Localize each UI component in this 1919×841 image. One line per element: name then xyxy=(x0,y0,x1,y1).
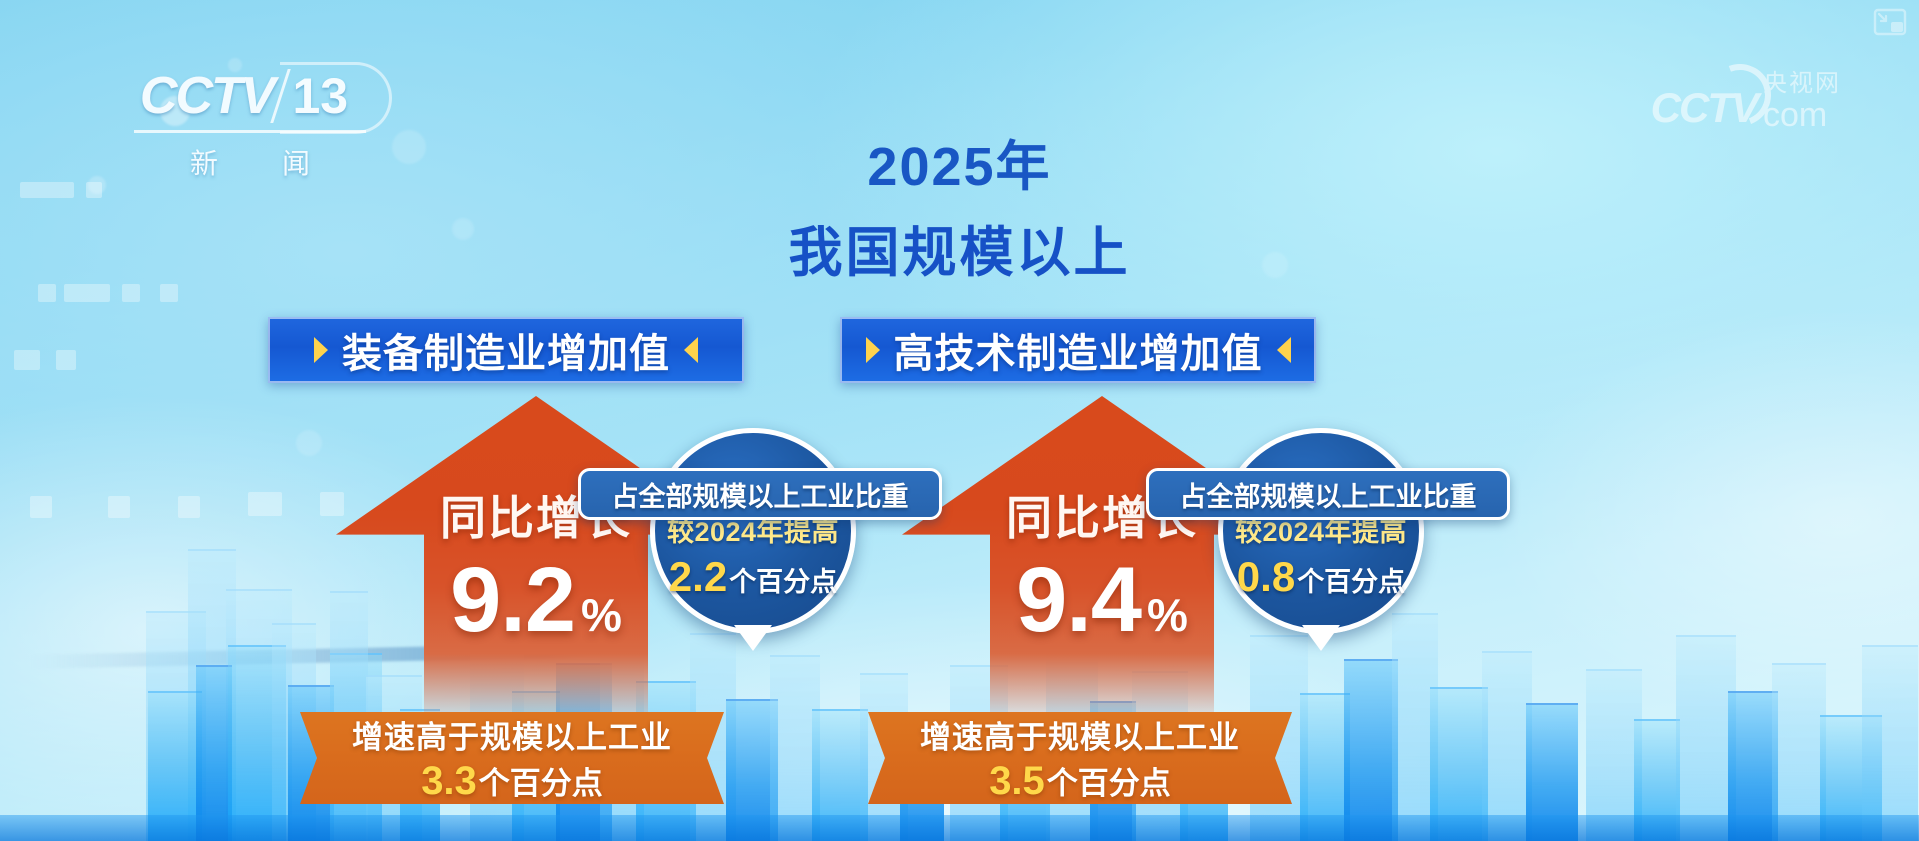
circle-unit: 个百分点 xyxy=(1297,567,1405,597)
ribbon-value: 3.3 xyxy=(421,759,477,803)
pill-label: 占全部规模以上工业比重 xyxy=(1180,475,1477,514)
arrow-growth-number: 9.4 xyxy=(1016,549,1141,651)
arrow-percent-symbol: % xyxy=(581,589,622,641)
pixel-accent xyxy=(14,350,40,370)
bokeh-dot xyxy=(228,58,242,72)
circle-unit: 个百分点 xyxy=(729,567,837,597)
picture-in-picture-icon[interactable] xyxy=(1873,8,1907,36)
banner-equipment-manufacturing[interactable]: 装备制造业增加值 xyxy=(268,317,744,383)
arrow-percent-symbol: % xyxy=(1147,589,1188,641)
circle-value-group: 2.2个百分点 xyxy=(669,553,837,601)
pixel-accent xyxy=(56,350,76,370)
building xyxy=(1862,645,1918,841)
share-circle-equipment: 较2024年提高 2.2个百分点 xyxy=(650,428,856,634)
circle-pointer-icon xyxy=(734,625,772,651)
ribbon-value: 3.5 xyxy=(989,759,1045,803)
circle-pointer-icon xyxy=(1302,625,1340,651)
triangle-right-icon xyxy=(866,337,880,363)
triangle-left-icon xyxy=(684,337,698,363)
triangle-right-icon xyxy=(314,337,328,363)
building xyxy=(1676,635,1736,841)
arrow-growth-number: 9.2 xyxy=(450,549,575,651)
ribbon-unit: 个百分点 xyxy=(479,766,603,801)
banner-label: 装备制造业增加值 xyxy=(342,321,670,379)
ribbon-equipment: 增速高于规模以上工业 3.3个百分点 xyxy=(300,712,724,804)
pill-label: 占全部规模以上工业比重 xyxy=(612,475,909,514)
ribbon-value-group: 3.5个百分点 xyxy=(989,758,1171,804)
banner-high-tech-manufacturing[interactable]: 高技术制造业增加值 xyxy=(840,317,1316,383)
circle-value: 0.8 xyxy=(1237,553,1295,600)
circle-value: 2.2 xyxy=(669,553,727,600)
ribbon-headline: 增速高于规模以上工业 xyxy=(920,712,1240,757)
ribbon-high-tech: 增速高于规模以上工业 3.5个百分点 xyxy=(868,712,1292,804)
share-circle-high-tech: 较2024年提高 0.8个百分点 xyxy=(1218,428,1424,634)
banner-label: 高技术制造业增加值 xyxy=(894,321,1263,379)
infographic-stage: CCTV 13 新 闻 CCTV 央视网 com 2025年 我国规模以上 装备… xyxy=(0,0,1919,841)
triangle-left-icon xyxy=(1277,337,1291,363)
circle-value-group: 0.8个百分点 xyxy=(1237,553,1405,601)
share-pill-equipment: 占全部规模以上工业比重 xyxy=(578,468,942,520)
ribbon-value-group: 3.3个百分点 xyxy=(421,758,603,804)
share-pill-high-tech: 占全部规模以上工业比重 xyxy=(1146,468,1510,520)
ribbon-unit: 个百分点 xyxy=(1047,766,1171,801)
panel-high-tech-manufacturing: 高技术制造业增加值 同比增长 9.4% 较2024年提高 0.8个百分点 占全部… xyxy=(840,0,1600,841)
ribbon-headline: 增速高于规模以上工业 xyxy=(352,712,672,757)
